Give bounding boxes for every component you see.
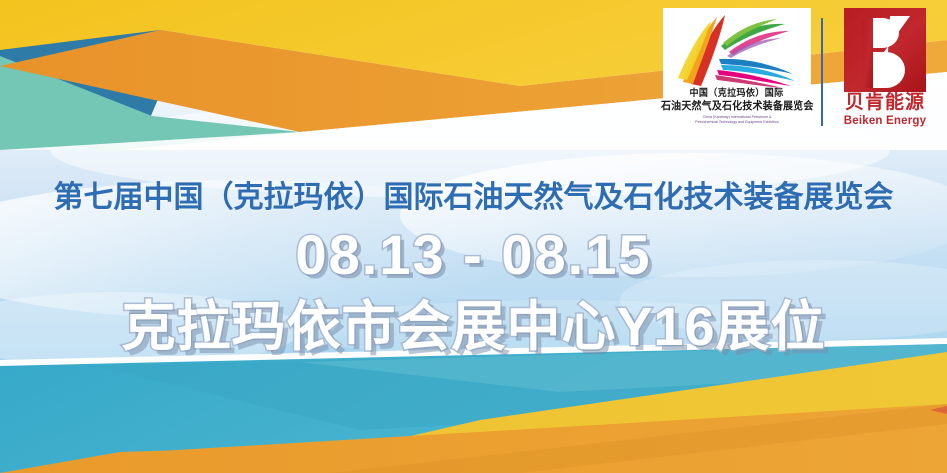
event-venue: 克拉玛依市会展中心Y16展位	[0, 282, 947, 361]
event-banner: 中国（克拉玛依）国际 石油天然气及石化技术装备展览会 China (Karama…	[0, 0, 947, 473]
exhibition-name-en-line2: Petrochemical Technology and Equipment E…	[695, 120, 779, 125]
sponsor-name-en: Beiken Energy	[844, 114, 927, 128]
sponsor-logo: 贝肯能源 Beiken Energy	[835, 8, 935, 134]
exhibition-logo: 中国（克拉玛依）国际 石油天然气及石化技术装备展览会 China (Karama…	[663, 8, 811, 136]
event-dates: 08.13 - 08.15	[0, 222, 947, 287]
event-title: 第七届中国（克拉玛依）国际石油天然气及石化技术装备展览会	[0, 172, 947, 216]
sponsor-name-cn: 贝肯能源	[845, 92, 925, 114]
exhibition-name-cn-line2: 石油天然气及石化技术装备展览会	[661, 100, 813, 113]
logo-bar: 中国（克拉玛依）国际 石油天然气及石化技术装备展览会 China (Karama…	[663, 8, 939, 136]
beiken-monogram-icon	[844, 8, 926, 92]
logo-divider	[821, 18, 823, 126]
exhibition-k-mark-icon	[677, 12, 797, 88]
exhibition-name-cn-line1: 中国（克拉玛依）国际	[690, 88, 784, 100]
